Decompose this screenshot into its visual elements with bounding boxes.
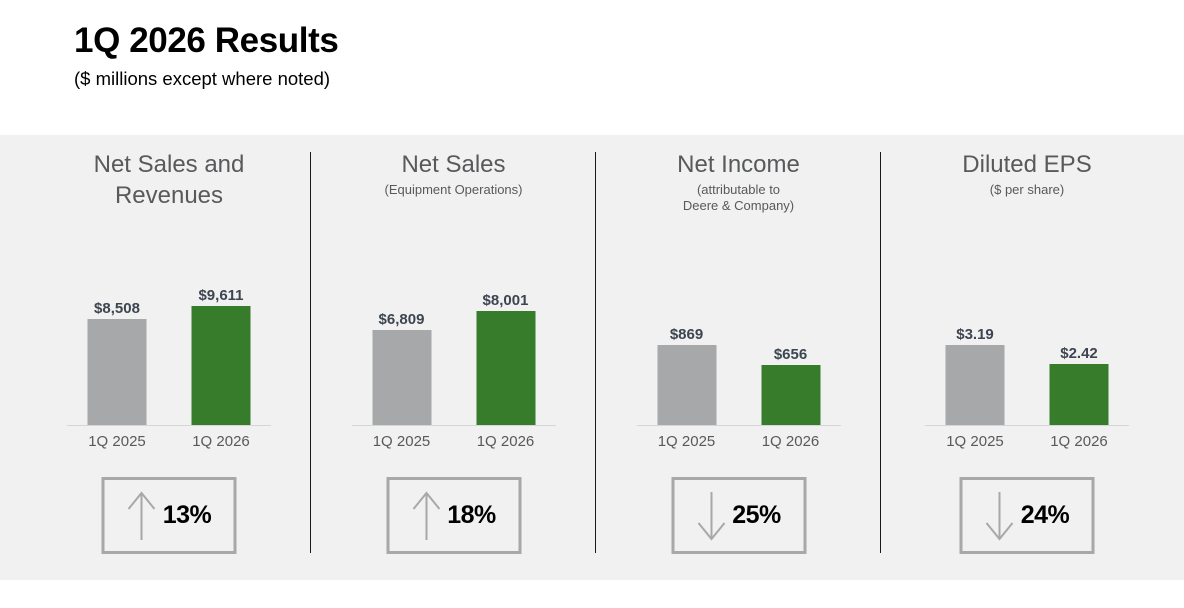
bar-current	[761, 365, 820, 425]
bar-chart: $6,809 $8,001	[312, 295, 595, 425]
bar-column-prior: $6,809	[352, 295, 452, 425]
panel-subtitle: ($ per share)	[882, 182, 1172, 198]
arrow-down-icon	[696, 490, 726, 542]
panel-divider-1	[310, 152, 311, 553]
change-percent: 25%	[732, 503, 781, 528]
bar-current	[476, 311, 535, 425]
panel-header: Net Sales (Equipment Operations)	[312, 149, 595, 198]
bar-column-prior: $8,508	[67, 295, 167, 425]
axis-label-prior: 1Q 2025	[637, 433, 737, 450]
bar-value-label-prior: $3.19	[956, 326, 994, 343]
plot-area: $6,809 $8,001	[352, 295, 556, 425]
axis-labels: 1Q 2025 1Q 2026	[637, 433, 841, 455]
bar-value-label-prior: $869	[670, 326, 703, 343]
axis-label-current: 1Q 2026	[1029, 433, 1129, 450]
bar-column-current: $2.42	[1029, 295, 1129, 425]
arrow-down-icon	[985, 490, 1015, 542]
bar-prior	[657, 345, 716, 425]
change-percent: 18%	[447, 503, 496, 528]
bar-column-current: $9,611	[171, 295, 271, 425]
panel-header: Net Sales and Revenues	[28, 149, 310, 213]
page-title: 1Q 2026 Results	[74, 22, 1074, 61]
bar-current	[192, 306, 251, 425]
change-percent: 13%	[163, 503, 212, 528]
axis-labels: 1Q 2025 1Q 2026	[925, 433, 1129, 455]
metric-panel-net-income: Net Income (attributable to Deere & Comp…	[597, 135, 880, 580]
panel-divider-2	[595, 152, 596, 553]
axis-label-prior: 1Q 2025	[67, 433, 167, 450]
bar-value-label-prior: $8,508	[94, 300, 140, 317]
panel-title: Diluted EPS	[882, 149, 1172, 180]
bar-column-prior: $3.19	[925, 295, 1025, 425]
panel-subtitle: (Equipment Operations)	[312, 182, 595, 198]
bar-column-current: $656	[741, 295, 841, 425]
bar-value-label-current: $8,001	[483, 292, 529, 309]
axis-label-current: 1Q 2026	[741, 433, 841, 450]
change-indicator-box: 25%	[671, 477, 806, 554]
bar-prior	[946, 345, 1005, 425]
axis-label-current: 1Q 2026	[171, 433, 271, 450]
arrow-up-icon	[411, 490, 441, 542]
axis-labels: 1Q 2025 1Q 2026	[67, 433, 271, 455]
bar-chart: $8,508 $9,611	[28, 295, 310, 425]
bar-current	[1050, 364, 1109, 425]
panel-title: Net Sales	[312, 149, 595, 180]
axis-labels: 1Q 2025 1Q 2026	[352, 433, 556, 455]
panel-subtitle: (attributable to Deere & Company)	[597, 182, 880, 215]
plot-area: $8,508 $9,611	[67, 295, 271, 425]
panel-header: Net Income (attributable to Deere & Comp…	[597, 149, 880, 215]
change-indicator-box: 13%	[102, 477, 237, 554]
bar-prior	[372, 330, 431, 425]
axis-baseline	[637, 425, 841, 426]
change-indicator-box: 18%	[386, 477, 521, 554]
page-subtitle: ($ millions except where noted)	[74, 69, 1074, 89]
axis-baseline	[67, 425, 271, 426]
axis-label-prior: 1Q 2025	[925, 433, 1025, 450]
metric-panel-net-sales: Net Sales (Equipment Operations) $6,809 …	[312, 135, 595, 580]
arrow-up-icon	[127, 490, 157, 542]
panel-title: Net Income	[597, 149, 880, 180]
bar-value-label-current: $656	[774, 346, 807, 363]
bar-value-label-prior: $6,809	[379, 311, 425, 328]
plot-area: $869 $656	[637, 295, 841, 425]
metric-panel-net-sales-and-revenues: Net Sales and Revenues $8,508 $9,611 1Q …	[28, 135, 310, 580]
bar-value-label-current: $2.42	[1060, 345, 1098, 362]
panel-title: Net Sales and Revenues	[28, 149, 310, 211]
change-indicator-box: 24%	[960, 477, 1095, 554]
page-header: 1Q 2026 Results ($ millions except where…	[74, 22, 1074, 89]
bar-column-current: $8,001	[456, 295, 556, 425]
bar-value-label-current: $9,611	[198, 287, 243, 304]
panel-divider-3	[880, 152, 881, 553]
axis-label-current: 1Q 2026	[456, 433, 556, 450]
axis-baseline	[925, 425, 1129, 426]
bar-chart: $3.19 $2.42	[882, 295, 1172, 425]
plot-area: $3.19 $2.42	[925, 295, 1129, 425]
metric-panel-diluted-eps: Diluted EPS ($ per share) $3.19 $2.42 1Q…	[882, 135, 1172, 580]
bar-chart: $869 $656	[597, 295, 880, 425]
bar-column-prior: $869	[637, 295, 737, 425]
panel-header: Diluted EPS ($ per share)	[882, 149, 1172, 198]
change-percent: 24%	[1021, 503, 1070, 528]
axis-baseline	[352, 425, 556, 426]
axis-label-prior: 1Q 2025	[352, 433, 452, 450]
bar-prior	[88, 319, 147, 425]
results-band: Net Sales and Revenues $8,508 $9,611 1Q …	[0, 135, 1184, 580]
